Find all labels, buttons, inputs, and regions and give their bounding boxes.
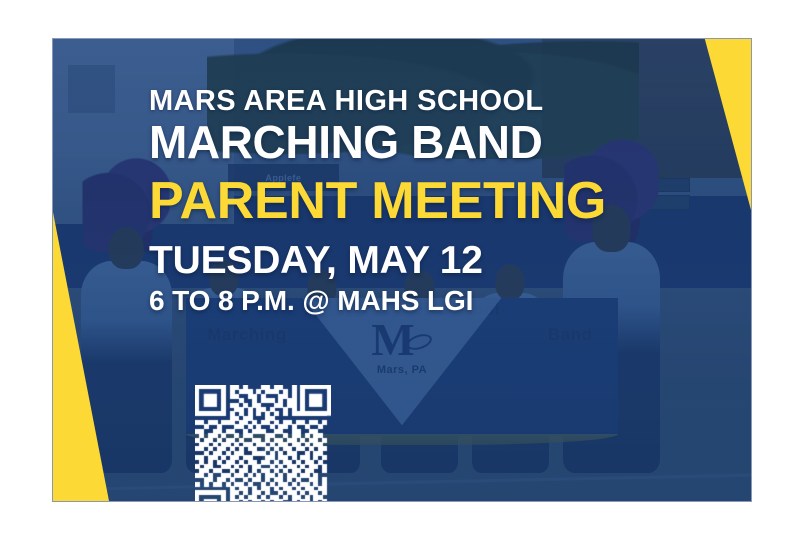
poster-copy: MARS AREA HIGH SCHOOL MARCHING BAND PARE… — [149, 86, 689, 315]
event-time-location: 6 TO 8 P.M. @ MAHS LGI — [149, 287, 689, 315]
qr-code-canvas[interactable] — [195, 385, 331, 501]
poster: Applefe — [53, 39, 751, 501]
headline: PARENT MEETING — [149, 175, 689, 227]
event-date: TUESDAY, MAY 12 — [149, 241, 689, 280]
qr-code[interactable] — [195, 385, 331, 501]
band-line: MARCHING BAND — [149, 119, 689, 165]
eyebrow-line: MARS AREA HIGH SCHOOL — [149, 86, 689, 116]
poster-canvas: Applefe — [0, 0, 800, 542]
